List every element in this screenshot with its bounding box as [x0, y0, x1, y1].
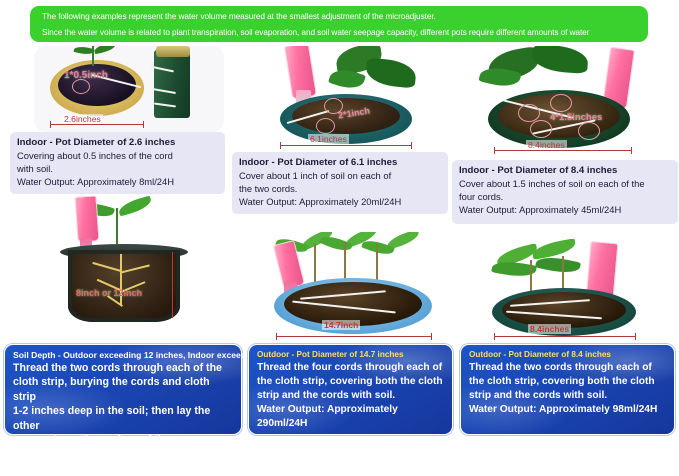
- cord-coil-ring: [530, 120, 552, 138]
- panel-soil-depth: Soil Depth - Outdoor exceeding 12 inches…: [4, 344, 242, 435]
- panel-heading: Outdoor - Pot Diameter of 14.7 inches: [257, 349, 445, 361]
- caption-body-1: Cover about 1 inch of soil on each of: [239, 169, 442, 182]
- cord-coil-ring: [518, 104, 540, 122]
- leaf: [117, 196, 153, 216]
- measure-line-bottom-middle: [276, 336, 432, 337]
- monstera-leaf: [365, 57, 417, 88]
- caption-body-3: Water Output: Approximately 8ml/24H: [17, 175, 219, 188]
- header-line-2: Since the water volume is related to pla…: [42, 25, 638, 41]
- measure-label-top-middle: 6.1inches: [308, 134, 349, 144]
- caption-body-2: with soil.: [17, 162, 219, 175]
- panel-outdoor-14-7: Outdoor - Pot Diameter of 14.7 inches Th…: [248, 344, 453, 435]
- overlay-label-bottom-left: 8inch or 12inch: [76, 288, 142, 298]
- infographic-root: The following examples represent the wat…: [0, 0, 679, 439]
- caption-indoor-2-6: Indoor - Pot Diameter of 2.6 inches Cove…: [10, 132, 225, 194]
- monstera-leaf: [531, 46, 589, 74]
- cord-coil-ring: [316, 118, 335, 134]
- photo-outdoor-8-4-inch: 8.4inches: [470, 236, 670, 342]
- panel-body-3: strip and the cords with soil.: [257, 389, 445, 403]
- header-banner: The following examples represent the wat…: [30, 6, 648, 42]
- measure-line-top-left: [50, 124, 144, 125]
- measure-label-top-right: 8.4inches: [526, 140, 567, 150]
- pink-bottle: [74, 196, 99, 243]
- panel-body-2: the cloth strip, covering both the cloth: [469, 375, 667, 389]
- pot-cross-section: [68, 250, 180, 322]
- soil-surface: [502, 292, 626, 328]
- panel-heading: Soil Depth - Outdoor exceeding 12 inches…: [13, 349, 234, 361]
- panel-body-4: two cords on the surface of the pot, cov…: [13, 433, 234, 462]
- photo-root-cross-section: 8inch or 12inch: [20, 196, 230, 338]
- caption-body-3: Water Output: Approximately 45ml/24H: [459, 203, 672, 216]
- measure-label-top-left: 2.6inches: [62, 114, 103, 124]
- measure-line-top-middle: [280, 145, 412, 146]
- panel-body-1: Thread the two cords through each of the: [13, 361, 234, 375]
- caption-body-1: Covering about 0.5 inches of the cord: [17, 149, 219, 162]
- panel-body-2: cloth strip, burying the cords and cloth…: [13, 375, 234, 404]
- panel-body-5: the cords with soil.: [13, 462, 234, 476]
- photo-indoor-6-1-inch: 2*1inch 6.1inches: [256, 46, 446, 150]
- panel-body-1: Thread the two cords through each of: [469, 361, 667, 375]
- depth-measure-line: [172, 252, 173, 318]
- measure-label-bottom-middle: 14.7inch: [322, 320, 360, 330]
- stem: [530, 260, 532, 294]
- leaf: [93, 46, 116, 54]
- bottle-cap: [156, 46, 190, 57]
- leaf: [531, 238, 577, 259]
- leaf: [319, 232, 353, 254]
- cord-coil-ring: [550, 94, 572, 112]
- panel-heading: Outdoor - Pot Diameter of 8.4 inches: [469, 349, 667, 361]
- caption-heading: Indoor - Pot Diameter of 8.4 inches: [459, 164, 672, 177]
- panel-body-2: the cloth strip, covering both the cloth: [257, 375, 445, 389]
- photo-indoor-2-6-inch: 1*0.5inch 2.6inches: [34, 46, 224, 132]
- caption-heading: Indoor - Pot Diameter of 2.6 inches: [17, 136, 219, 149]
- panel-body-3: 1-2 inches deep in the soil; then lay th…: [13, 404, 234, 433]
- overlay-label-top-left: 1*0.5inch: [64, 70, 108, 81]
- header-line-1: The following examples represent the wat…: [42, 9, 638, 25]
- panel-body-1: Thread the four cords through each of: [257, 361, 445, 375]
- panel-outdoor-8-4: Outdoor - Pot Diameter of 8.4 inches Thr…: [460, 344, 675, 435]
- caption-heading: Indoor - Pot Diameter of 6.1 inches: [239, 156, 442, 169]
- caption-body-3: Water Output: Approximately 20ml/24H: [239, 195, 442, 208]
- cord-coil-ring: [72, 79, 90, 94]
- caption-body-1: Cover about 1.5 inches of soil on each o…: [459, 177, 672, 190]
- caption-body-2: four cords.: [459, 190, 672, 203]
- measure-label-bottom-right: 8.4inches: [528, 324, 571, 334]
- root-main: [120, 254, 122, 306]
- photo-outdoor-14-7-inch: 14.7inch: [248, 232, 458, 342]
- caption-body-2: the two cords.: [239, 182, 442, 195]
- measure-line-top-right: [494, 150, 632, 151]
- green-bottle: [154, 50, 190, 118]
- cord-coil-ring: [578, 122, 600, 140]
- overlay-label-top-right: 4*1.5inches: [550, 112, 602, 123]
- panel-body-3: strip and the cords with soil.: [469, 389, 667, 403]
- stem: [314, 244, 316, 286]
- panel-body-4: Water Output: Approximately 98ml/24H: [469, 403, 667, 417]
- measure-line-bottom-right: [494, 336, 636, 337]
- caption-indoor-6-1: Indoor - Pot Diameter of 6.1 inches Cove…: [232, 152, 448, 214]
- photo-indoor-8-4-inch: 4*1.5inches 8.4inches: [466, 46, 666, 156]
- caption-indoor-8-4: Indoor - Pot Diameter of 8.4 inches Cove…: [452, 160, 678, 224]
- panel-body-4: Water Output: Approximately 290ml/24H: [257, 403, 445, 431]
